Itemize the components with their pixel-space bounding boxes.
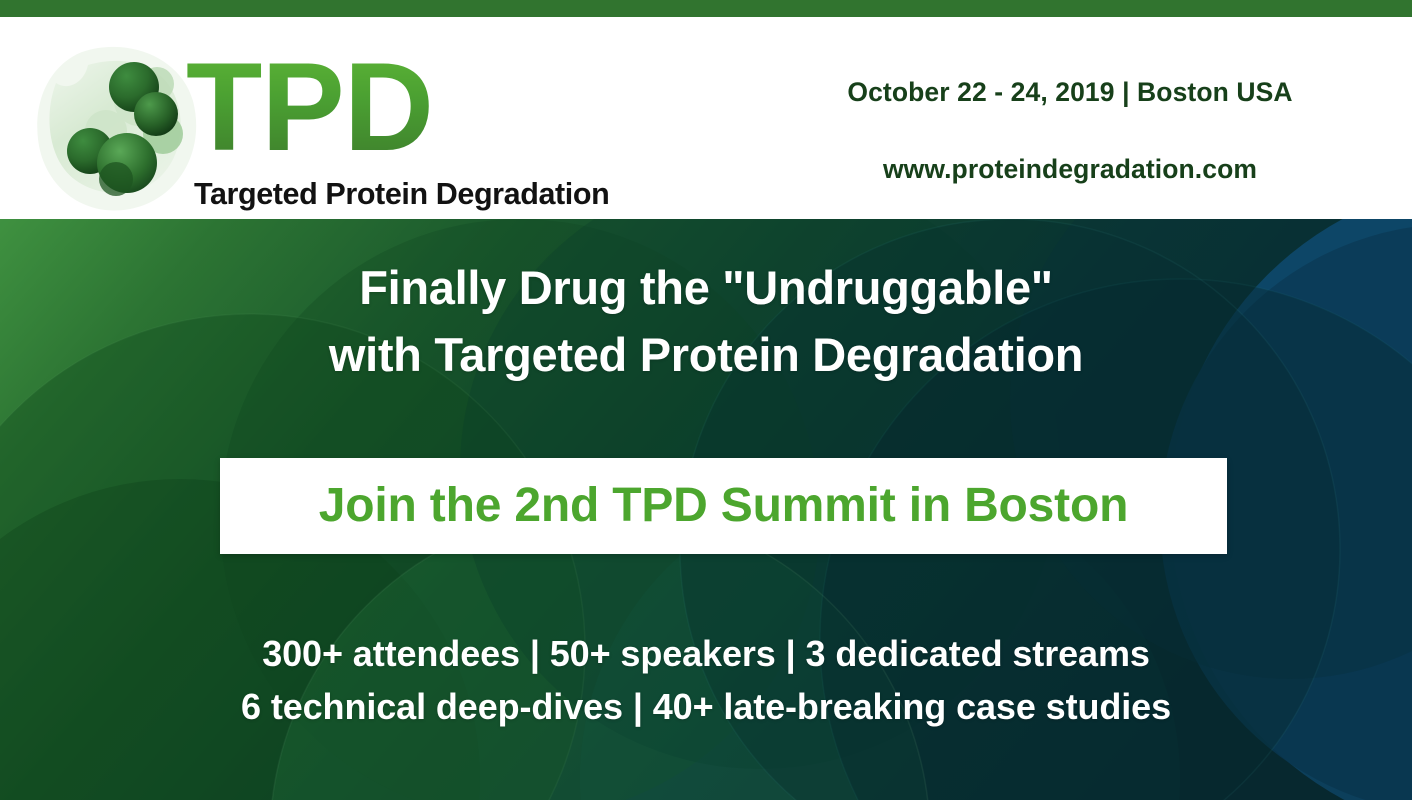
event-website-link[interactable]: www.proteindegradation.com [760, 152, 1380, 186]
event-stats: 300+ attendees | 50+ speakers | 3 dedica… [0, 627, 1412, 733]
cta-banner[interactable]: Join the 2nd TPD Summit in Boston [220, 458, 1227, 554]
brand-wordmark: TPD Targeted Protein Degradation [186, 47, 656, 212]
headline-line-1: Finally Drug the "Undruggable" [0, 254, 1412, 321]
event-date-location: October 22 - 24, 2019 | Boston USA [760, 75, 1380, 109]
headline-line-2: with Targeted Protein Degradation [0, 321, 1412, 388]
hero-section: Finally Drug the "Undruggable" with Targ… [0, 219, 1412, 800]
stats-line-1: 300+ attendees | 50+ speakers | 3 dedica… [0, 627, 1412, 680]
top-accent-rule [0, 0, 1412, 17]
hero-headline: Finally Drug the "Undruggable" with Targ… [0, 254, 1412, 388]
cell-protein-blobs-logo-icon [30, 39, 210, 214]
event-meta: October 22 - 24, 2019 | Boston USA www.p… [760, 75, 1380, 186]
wordmark-text: TPD [186, 47, 433, 169]
conference-promo-banner: TPD Targeted Protein Degradation October… [0, 0, 1412, 800]
stats-line-2: 6 technical deep-dives | 40+ late-breaki… [0, 680, 1412, 733]
wordmark-tagline: Targeted Protein Degradation [194, 177, 609, 211]
banner-header: TPD Targeted Protein Degradation October… [0, 17, 1412, 219]
cta-label: Join the 2nd TPD Summit in Boston [319, 480, 1128, 532]
